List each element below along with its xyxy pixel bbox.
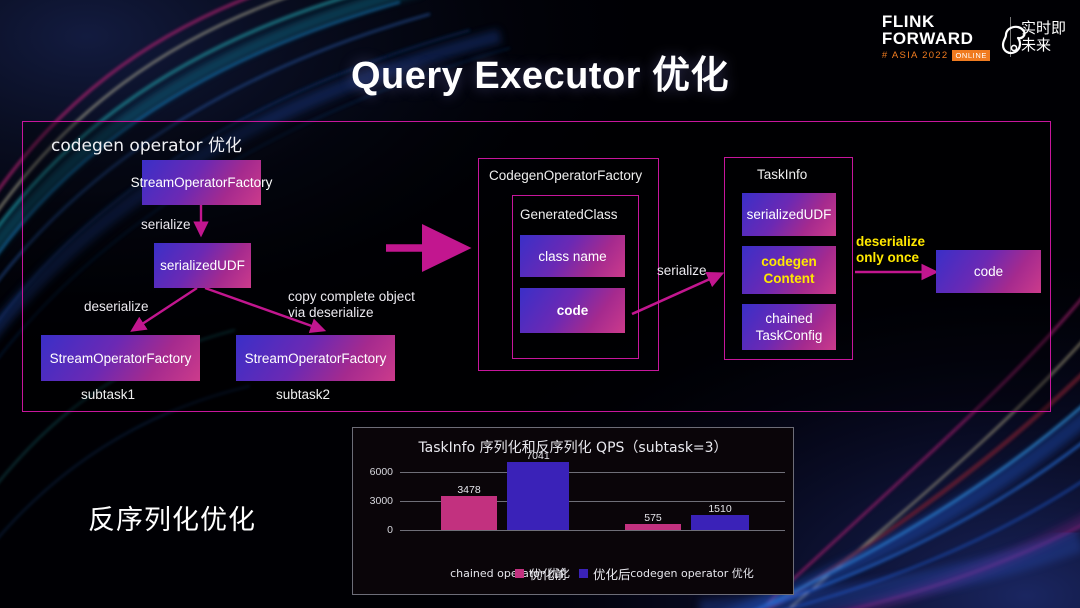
- legend-label-after: 优化后: [593, 564, 631, 583]
- logo-forward-text: FORWARD: [882, 30, 974, 48]
- box-stream-operator-factory-subtask1: StreamOperatorFactory: [41, 335, 200, 381]
- logo-online-badge: ONLINE: [952, 50, 990, 61]
- gridline-6000: [400, 472, 785, 473]
- box-stream-operator-factory-subtask2: StreamOperatorFactory: [236, 335, 395, 381]
- codegen-operator-diagram-panel: codegen operator 优化 StreamOperatorFactor…: [22, 121, 1051, 412]
- logo-subline: # ASIA 2022 ONLINE: [882, 50, 990, 61]
- bar-chained-after: [507, 462, 569, 530]
- bar-label-chained-before: 3478: [431, 484, 507, 496]
- legend-item-before: 优化前: [515, 564, 567, 583]
- ytick-0: 0: [353, 524, 393, 536]
- chart-plot-area: 6000 3000 0 3478 7041 575 1510: [353, 456, 795, 561]
- legend-label-before: 优化前: [529, 564, 567, 583]
- box-serialized-udf-left: serializedUDF: [154, 243, 251, 288]
- box-stream-operator-factory-top: StreamOperatorFactory: [142, 160, 261, 205]
- label-serialize-left: serialize: [141, 217, 191, 233]
- box-class-name: class name: [520, 235, 625, 277]
- section-title-deserialization: 反序列化优化: [88, 498, 256, 537]
- label-deserialize: deserialize: [84, 299, 149, 315]
- box-codegen-content: codegen Content: [742, 246, 836, 294]
- logo-asia-text: # ASIA 2022: [882, 50, 949, 61]
- bar-label-codegen-before: 575: [615, 512, 691, 524]
- chart-legend: 优化前 优化后: [353, 564, 793, 583]
- bar-codegen-after: [691, 515, 749, 530]
- ytick-3000: 3000: [353, 495, 393, 507]
- bar-label-chained-after: 7041: [500, 450, 576, 462]
- diagram-panel-title: codegen operator 优化: [51, 131, 242, 156]
- ytick-6000: 6000: [353, 466, 393, 478]
- bar-codegen-before: [625, 524, 681, 530]
- group-title-codegen-operator-factory: CodegenOperatorFactory: [489, 168, 642, 183]
- box-code-output: code: [936, 250, 1041, 293]
- group-title-generated-class: GeneratedClass: [520, 207, 600, 223]
- box-chained-taskconfig: chained TaskConfig: [742, 304, 836, 350]
- gridline-0: [400, 530, 785, 531]
- box-code-middle: code: [520, 288, 625, 333]
- label-subtask2: subtask2: [276, 387, 330, 403]
- label-deserialize-only-once: deserialize only once: [856, 234, 925, 266]
- legend-swatch-before: [515, 569, 524, 578]
- flink-forward-logo: FLINK FORWARD # ASIA 2022 ONLINE 实时即 未来: [882, 8, 1066, 66]
- legend-item-after: 优化后: [579, 564, 631, 583]
- qps-bar-chart: TaskInfo 序列化和反序列化 QPS（subtask=3） 6000 30…: [352, 427, 794, 595]
- label-serialize-middle: serialize: [657, 263, 707, 279]
- box-serialized-udf-taskinfo: serializedUDF: [742, 193, 836, 236]
- logo-flink-text: FLINK: [882, 13, 935, 30]
- group-title-taskinfo: TaskInfo: [757, 167, 807, 182]
- bar-chained-before: [441, 496, 497, 530]
- legend-swatch-after: [579, 569, 588, 578]
- label-copy-complete-object: copy complete object via deserialize: [288, 289, 415, 321]
- bar-label-codegen-after: 1510: [682, 503, 758, 515]
- slide-root: Query Executor 优化 FLINK FORWARD # ASIA 2…: [0, 0, 1080, 608]
- logo-wordmark: FLINK FORWARD # ASIA 2022 ONLINE: [882, 13, 990, 61]
- label-subtask1: subtask1: [81, 387, 135, 403]
